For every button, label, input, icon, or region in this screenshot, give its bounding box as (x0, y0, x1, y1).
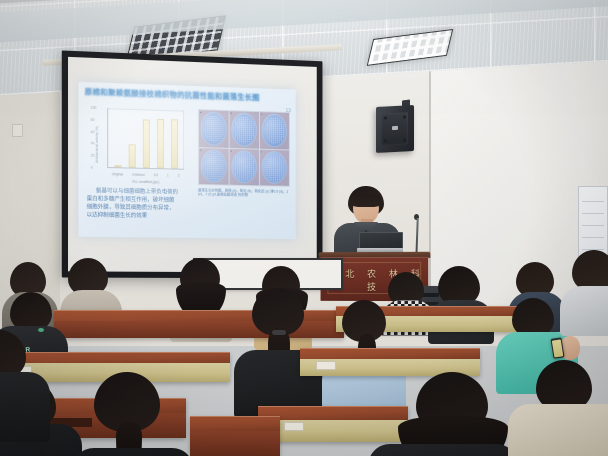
plate-b: b (230, 111, 259, 148)
wall-speaker-icon (376, 105, 414, 153)
projection-screen: 原棉和聚赖氨酸接枝棉织物的抗菌性能和菌落生长图 13 Antibacterial… (62, 50, 323, 278)
bench-row-front-right (258, 406, 408, 442)
torso (560, 286, 608, 336)
x-tick-0-5: 0.5 (154, 173, 158, 177)
hair-tie (272, 330, 286, 335)
antibacterial-bar-chart: Antibacterial activity (%) 100 80 60 40 … (87, 104, 186, 185)
projected-slide: 原棉和聚赖氨酸接枝棉织物的抗菌性能和菌落生长图 13 Antibacterial… (78, 82, 295, 239)
chart-y-axis-label: Antibacterial activity (%) (95, 117, 99, 172)
slide-body-text: 氨基可以与细菌细胞上带负电荷的 蛋白和多糖产生相互作用，破坏细菌 细胞外膜，导致… (87, 188, 186, 222)
y-tick-100: 100 (91, 106, 97, 110)
collar-patch (38, 328, 44, 332)
x-tick-1: 1 (167, 173, 169, 177)
bar-original (114, 165, 121, 167)
plate-a: a (199, 110, 229, 147)
slide-text-line-1: 氨基可以与细菌细胞上带负电荷的 (87, 188, 186, 196)
plate-caption: 菌落生长实物图，原棉 (a)，氧化 (b)，氧化后 (c) 浸0.5 (d)、1… (198, 188, 290, 198)
plate-tag-c: c (261, 112, 262, 116)
slide-text-line-3: 细胞外膜，导致其细胞质分布异常， (87, 204, 186, 212)
phone-screen (552, 339, 564, 357)
y-tick-40: 40 (91, 142, 95, 146)
lecture-hall-photo: 原棉和聚赖氨酸接枝棉织物的抗菌性能和菌落生长图 13 Antibacterial… (0, 0, 608, 456)
presenter-fringe (349, 194, 383, 207)
x-tick-2: 2 (178, 174, 180, 178)
y-tick-0: 0 (91, 166, 93, 170)
plate-tag-a: a (200, 110, 202, 114)
plate-d: d (199, 148, 229, 185)
torso (508, 404, 608, 456)
plate-c: c (260, 112, 289, 149)
x-tick-original: Original (112, 172, 123, 176)
y-tick-20: 20 (91, 154, 95, 158)
y-tick-60: 60 (91, 130, 95, 134)
bar-pll-0-5 (143, 119, 150, 168)
chart-x-axis-label: PLL modified (g/L) (107, 179, 184, 185)
bar-pll-1 (157, 119, 164, 169)
bar-pll-2 (171, 119, 178, 169)
y-tick-80: 80 (91, 118, 95, 122)
torso (72, 448, 194, 456)
plate-f: f (260, 149, 289, 186)
torso (0, 372, 50, 442)
torso (368, 444, 518, 456)
bench-label (316, 361, 336, 370)
bench-row-front-far (190, 416, 280, 456)
light-switch-plate[interactable] (12, 124, 23, 137)
plate-tag-f: f (261, 149, 262, 153)
slide-text-line-2: 蛋白和多糖产生相互作用，破坏细菌 (87, 196, 186, 204)
chart-x-tick-labels: Original Oxidized 0.5 1 2 (107, 172, 184, 178)
plate-tag-e: e (231, 148, 233, 152)
petri-plate-grid: a b c d e f (198, 109, 290, 187)
plate-tag-d: d (200, 148, 202, 152)
slide-text-line-4: 以达抑制细菌生长的效果 (87, 213, 186, 221)
presenter-laptop[interactable] (357, 232, 403, 254)
bench-label (284, 422, 304, 431)
x-tick-oxidized: Oxidized (132, 173, 145, 177)
plate-e: e (230, 148, 259, 185)
bar-oxidized (128, 144, 135, 168)
plate-tag-b: b (231, 111, 233, 115)
chart-plot-area (107, 108, 184, 170)
chart-bars (110, 108, 182, 168)
